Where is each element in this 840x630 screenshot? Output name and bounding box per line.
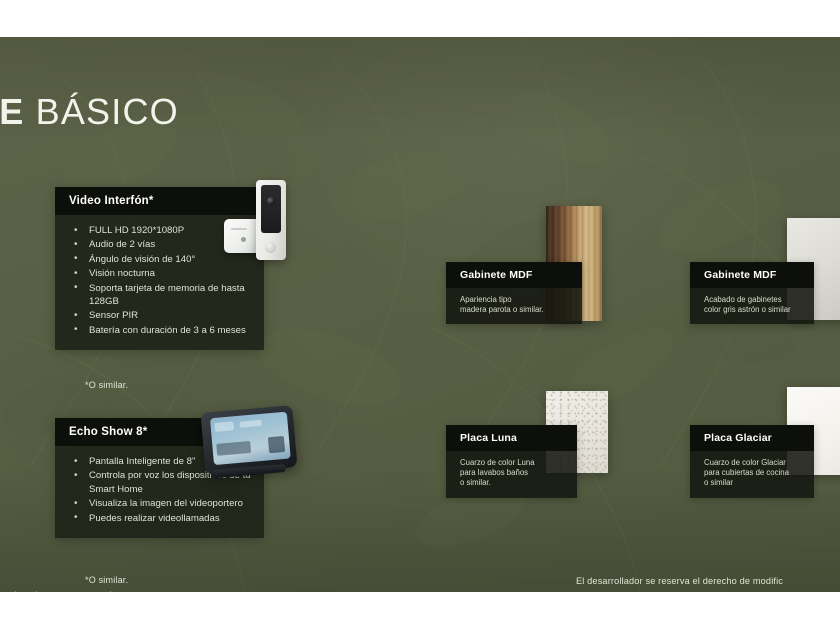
footnote-video-interfon: *O similar.: [85, 380, 128, 390]
list-item: Visualiza la imagen del videoportero: [69, 497, 254, 510]
page-title: ME BÁSICO: [0, 94, 179, 130]
material-label: Gabinete MDF Apariencia tipo madera paro…: [446, 262, 582, 324]
material-title: Gabinete MDF: [446, 262, 582, 288]
list-item: Puedes realizar videollamadas: [69, 512, 254, 525]
echo-screen: [210, 412, 291, 466]
video-doorbell-device: [256, 180, 286, 260]
doorbell-button: [265, 242, 276, 253]
list-item: Visión nocturna: [69, 267, 254, 280]
material-title: Placa Glaciar: [690, 425, 814, 451]
list-item: Soporta tarjeta de memoria de hasta 128G…: [69, 282, 254, 309]
screen-tile: [214, 421, 234, 432]
disclaimer-left: no mencionado en este apartado e costo e…: [0, 589, 117, 592]
camera-lens-icon: [267, 197, 275, 205]
slide-viewer: ME BÁSICO Video Interfón* FULL HD 1920*1…: [0, 0, 840, 630]
page-title-strong: ME: [0, 91, 24, 132]
echo-show-device: [200, 405, 297, 475]
product-title-video-interfon: Video Interfón*: [55, 187, 264, 215]
list-item: Sensor PIR: [69, 309, 254, 322]
material-label: Gabinete MDF Acabado de gabinetes color …: [690, 262, 814, 324]
presentation-slide: ME BÁSICO Video Interfón* FULL HD 1920*1…: [0, 37, 840, 592]
list-item: Batería con duración de 3 a 6 meses: [69, 324, 254, 337]
product-card-video-interfon[interactable]: Video Interfón* FULL HD 1920*1080P Audio…: [55, 187, 264, 350]
material-label: Placa Glaciar Cuarzo de color Glaciar pa…: [690, 425, 814, 498]
material-label: Placa Luna Cuarzo de color Luna para lav…: [446, 425, 577, 498]
screen-tile: [268, 436, 285, 453]
list-item: Ángulo de visión de 140°: [69, 253, 254, 266]
material-title: Gabinete MDF: [690, 262, 814, 288]
chime-detail-dot: [241, 237, 246, 242]
material-description: Cuarzo de color Luna para lavabos baños …: [446, 451, 577, 498]
footnote-echo-show: *O similar.: [85, 575, 128, 585]
screen-tile: [239, 420, 261, 428]
page-title-light: BÁSICO: [24, 91, 178, 132]
screen-tile: [216, 441, 251, 456]
material-description: Cuarzo de color Glaciar para cubiertas d…: [690, 451, 814, 498]
disclaimer-right: El desarrollador se reserva el derecho d…: [576, 575, 783, 588]
doorbell-faceplate: [261, 185, 281, 233]
material-title: Placa Luna: [446, 425, 577, 451]
material-description: Acabado de gabinetes color gris astrón o…: [690, 288, 814, 324]
chime-detail-line: [231, 228, 247, 230]
material-description: Apariencia tipo madera parota o similar.: [446, 288, 582, 324]
